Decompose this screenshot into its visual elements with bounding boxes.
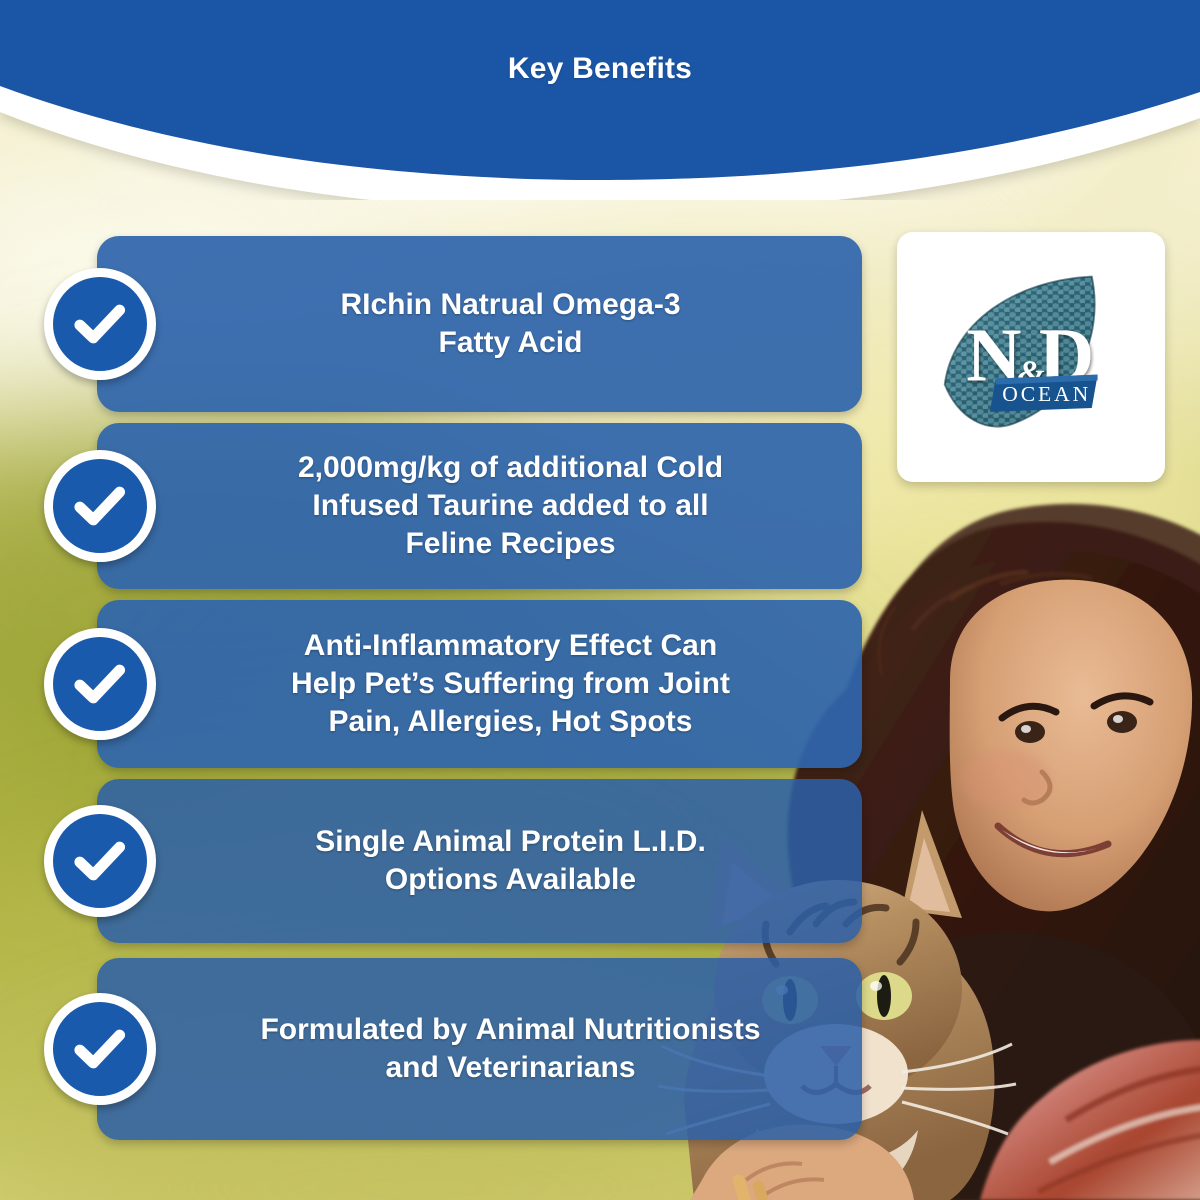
benefit-card[interactable]: Anti-Inflammatory Effect CanHelp Pet’s S… [97,600,862,768]
check-icon [44,450,156,562]
benefit-text: RIchin Natrual Omega-3Fatty Acid [217,286,804,362]
nd-ocean-logo: N & D OCEAN [897,232,1165,482]
benefit-row: Formulated by Animal Nutritionistsand Ve… [0,958,900,1140]
benefit-row: Single Animal Protein L.I.D.Options Avai… [0,779,900,943]
check-icon [44,993,156,1105]
benefit-row: Anti-Inflammatory Effect CanHelp Pet’s S… [0,600,900,768]
check-icon [44,628,156,740]
logo-ribbon-text: OCEAN [1002,382,1091,406]
benefit-card[interactable]: Single Animal Protein L.I.D.Options Avai… [97,779,862,943]
page-title: Key Benefits [0,52,1200,86]
benefit-row: 2,000mg/kg of additional ColdInfused Tau… [0,423,900,589]
benefit-card[interactable]: Formulated by Animal Nutritionistsand Ve… [97,958,862,1140]
benefit-row: RIchin Natrual Omega-3Fatty Acid [0,236,900,412]
benefit-text: 2,000mg/kg of additional ColdInfused Tau… [217,449,804,562]
benefit-text: Formulated by Animal Nutritionistsand Ve… [217,1011,804,1087]
check-icon [44,268,156,380]
benefit-text: Single Animal Protein L.I.D.Options Avai… [217,823,804,899]
benefit-text: Anti-Inflammatory Effect CanHelp Pet’s S… [217,627,804,740]
check-icon [44,805,156,917]
benefit-card[interactable]: RIchin Natrual Omega-3Fatty Acid [97,236,862,412]
header-banner: Key Benefits [0,0,1200,200]
benefit-card[interactable]: 2,000mg/kg of additional ColdInfused Tau… [97,423,862,589]
